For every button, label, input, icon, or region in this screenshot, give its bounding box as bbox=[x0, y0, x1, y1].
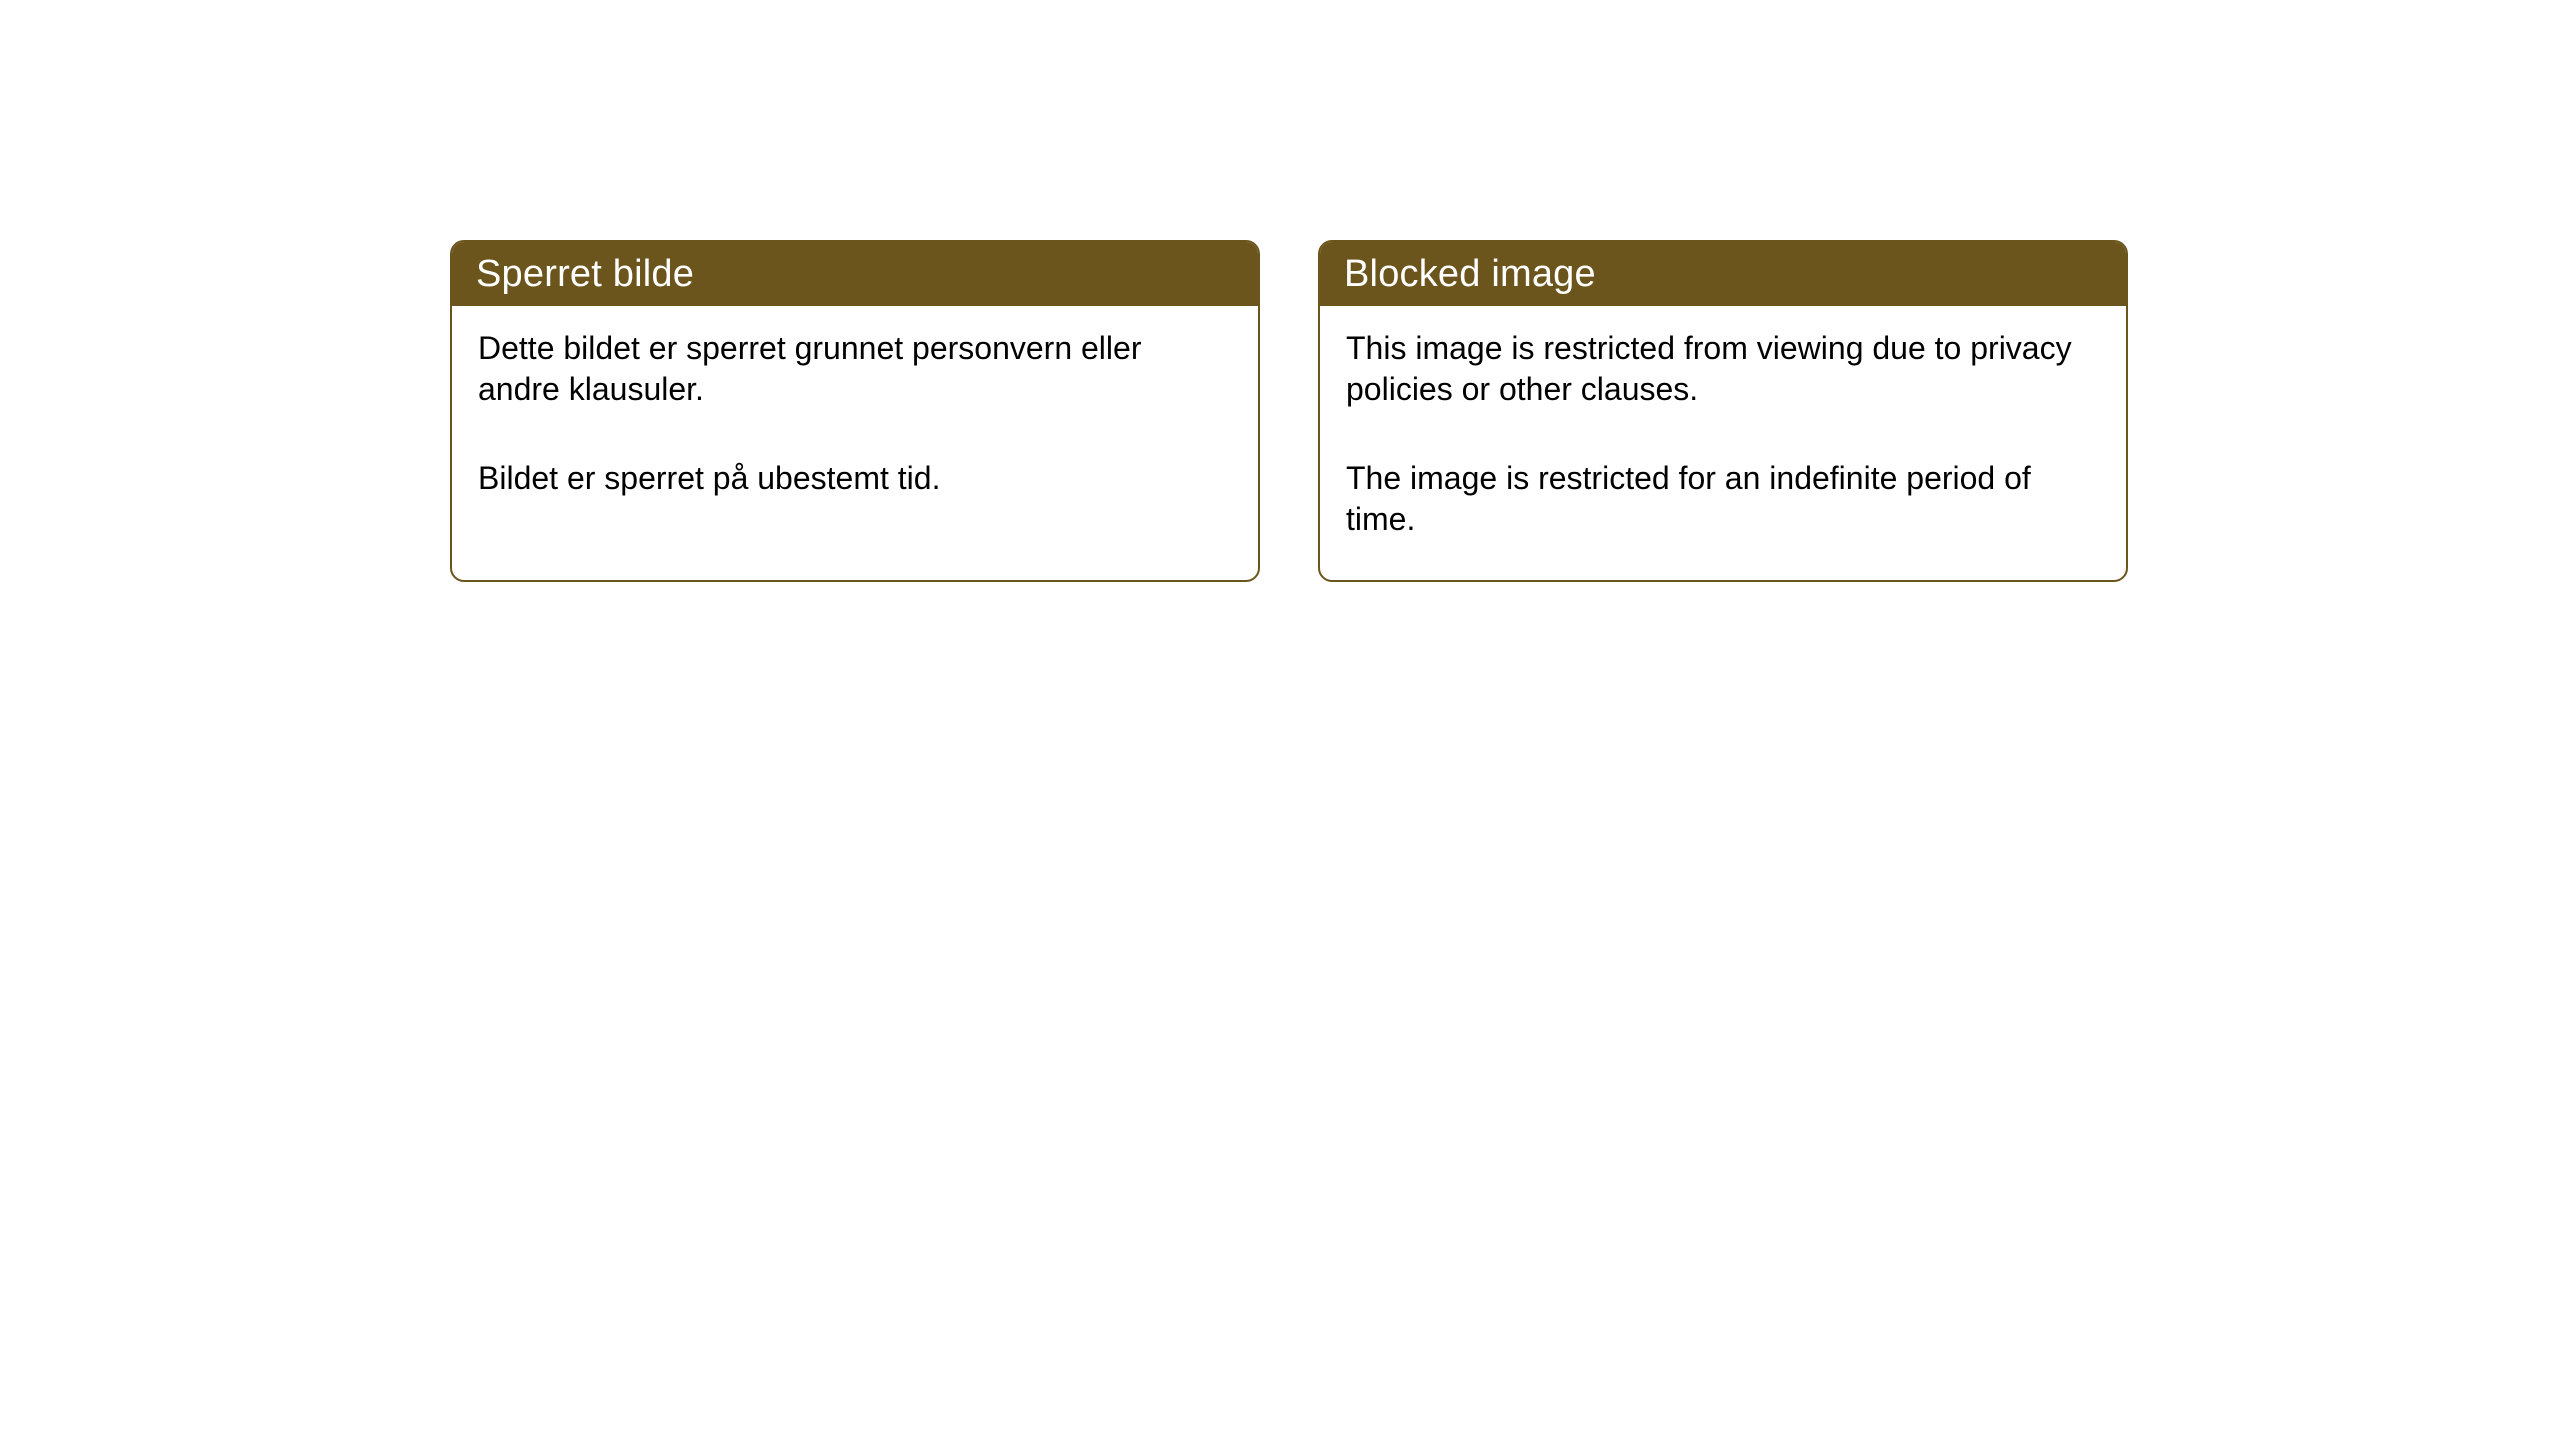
card-paragraph-primary-norwegian: Dette bildet er sperret grunnet personve… bbox=[478, 328, 1232, 410]
card-header-english: Blocked image bbox=[1320, 242, 2126, 306]
card-body-english: This image is restricted from viewing du… bbox=[1320, 306, 2126, 540]
page-root: Sperret bilde Dette bildet er sperret gr… bbox=[0, 0, 2560, 1440]
card-header-norwegian: Sperret bilde bbox=[452, 242, 1258, 306]
blocked-image-notice-card-norwegian: Sperret bilde Dette bildet er sperret gr… bbox=[450, 240, 1260, 582]
card-title-norwegian: Sperret bilde bbox=[476, 255, 694, 293]
card-paragraph-primary-english: This image is restricted from viewing du… bbox=[1346, 328, 2100, 410]
card-body-norwegian: Dette bildet er sperret grunnet personve… bbox=[452, 306, 1258, 499]
card-paragraph-secondary-english: The image is restricted for an indefinit… bbox=[1346, 458, 2100, 540]
card-title-english: Blocked image bbox=[1344, 255, 1596, 293]
blocked-image-notice-card-english: Blocked image This image is restricted f… bbox=[1318, 240, 2128, 582]
card-paragraph-secondary-norwegian: Bildet er sperret på ubestemt tid. bbox=[478, 458, 1232, 499]
